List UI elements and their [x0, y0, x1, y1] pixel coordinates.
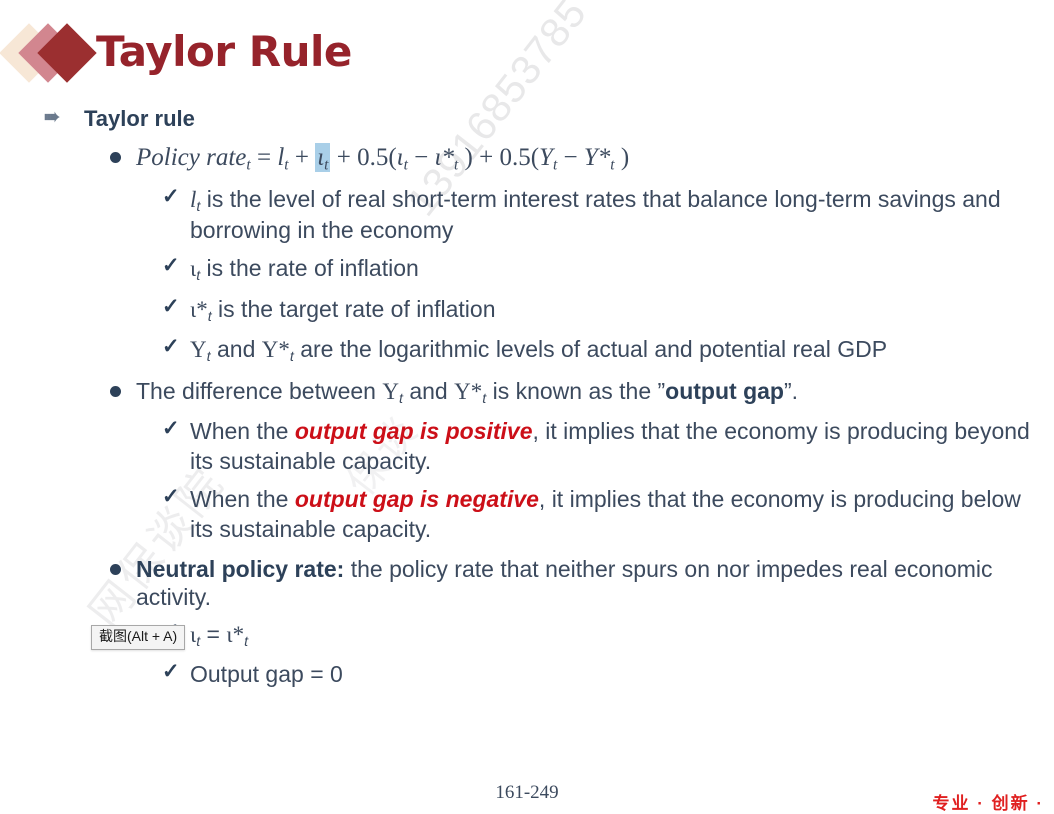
formula-minus-2: −	[557, 144, 584, 171]
definition-item-output: ✓ Yt and Y*t are the logarithmic levels …	[0, 335, 1054, 366]
output-gap-symbol-y: Y	[382, 379, 399, 404]
definition-item-l: ✓ lt is the level of real short-term int…	[0, 185, 1054, 246]
condition-text: Output gap = 0	[190, 661, 343, 687]
output-gap-mid: and	[403, 378, 454, 404]
checkmark-icon: ✓	[162, 659, 180, 686]
condition-symbol-2: ι*	[226, 622, 244, 647]
definition-item-iota-star: ✓ ι*t is the target rate of inflation	[0, 295, 1054, 326]
footer-brand-text: 专业 · 创新 ·	[933, 789, 1045, 814]
output-gap-pre: The difference between	[136, 378, 382, 404]
formula-close-2: )	[615, 144, 630, 171]
checkmark-icon: ✓	[162, 253, 180, 280]
definition-item-iota: ✓ ιt is the rate of inflation	[0, 254, 1054, 285]
bullet-level2-output-gap: The difference between Yt and Y*t is kno…	[0, 377, 1054, 408]
arrow-bullet-icon: ➠	[44, 107, 60, 130]
neutral-condition-output-gap: ✓ Output gap = 0	[0, 660, 1054, 689]
formula-highlight-sub: t	[324, 157, 328, 174]
bullet-level1-taylor-rule: ➠ Taylor rule	[0, 106, 1054, 132]
definition-symbol-2: Y*	[262, 337, 290, 362]
dot-bullet-icon	[110, 152, 121, 163]
output-gap-tail: ”.	[784, 378, 798, 404]
definition-text: is the level of real short-term interest…	[190, 186, 1001, 243]
formula-label: Policy rate	[136, 144, 246, 171]
definition-symbol: Y	[190, 337, 207, 362]
definition-mid: and	[211, 336, 262, 362]
checkmark-icon: ✓	[162, 294, 180, 321]
output-gap-symbol-ystar: Y*	[454, 379, 482, 404]
output-gap-post: is known as the ”	[486, 378, 665, 404]
formula-t2b: ι*	[435, 144, 454, 171]
checkmark-icon: ✓	[162, 334, 180, 361]
bullet-level2-formula: Policy ratet = lt + ιt + 0.5(ιt − ι*t ) …	[0, 143, 1054, 175]
gap-case-pre: When the	[190, 486, 295, 512]
slide-body: ➠ Taylor rule Policy ratet = lt + ιt + 0…	[0, 96, 1054, 690]
gap-case-positive: ✓ When the output gap is positive, it im…	[0, 417, 1054, 476]
gap-case-negative: ✓ When the output gap is negative, it im…	[0, 485, 1054, 544]
formula-t2a: ι	[397, 144, 404, 171]
screenshot-tooltip: 截图(Alt + A)	[91, 625, 185, 650]
formula-highlighted-term: ιt	[315, 143, 330, 172]
taylor-rule-formula: Policy ratet = lt + ιt + 0.5(ιt − ι*t ) …	[136, 144, 629, 171]
formula-plus-3: +	[473, 144, 500, 171]
definition-text: are the logarithmic levels of actual and…	[294, 336, 887, 362]
formula-t3a: Y	[539, 144, 553, 171]
gap-case-emphasis: output gap is positive	[295, 418, 533, 444]
neutral-policy-rate-label: Neutral policy rate:	[136, 556, 344, 582]
definition-symbol: ι*	[190, 297, 208, 322]
definition-text: is the rate of inflation	[200, 255, 419, 281]
bullet-level2-neutral-policy-rate: Neutral policy rate: the policy rate tha…	[0, 555, 1054, 611]
gap-case-emphasis: output gap is negative	[295, 486, 539, 512]
checkmark-icon: ✓	[162, 484, 180, 511]
formula-close-1: )	[458, 144, 473, 171]
gap-case-pre: When the	[190, 418, 295, 444]
checkmark-icon: ✓	[162, 416, 180, 443]
bullet-level1-label: Taylor rule	[84, 106, 195, 131]
dot-bullet-icon	[110, 564, 121, 575]
dot-bullet-icon	[110, 386, 121, 397]
formula-plus-1: +	[289, 144, 316, 171]
formula-coef-2: 0.5(	[499, 144, 539, 171]
formula-equals: =	[251, 144, 278, 171]
page-number: 161-249	[0, 782, 1054, 804]
slide-header: Taylor Rule	[0, 0, 1054, 96]
output-gap-bold-term: output gap	[665, 378, 784, 404]
formula-coef-1: 0.5(	[357, 144, 397, 171]
formula-t3b: Y*	[584, 144, 610, 171]
definition-text: is the target rate of inflation	[212, 296, 496, 322]
checkmark-icon: ✓	[162, 184, 180, 211]
page-title: Taylor Rule	[96, 27, 352, 76]
diamond-logo-icon	[8, 22, 90, 84]
condition-symbol-2-sub: t	[244, 634, 248, 650]
formula-plus-2: +	[330, 144, 357, 171]
formula-minus-1: −	[408, 144, 435, 171]
condition-equals: =	[200, 621, 226, 647]
